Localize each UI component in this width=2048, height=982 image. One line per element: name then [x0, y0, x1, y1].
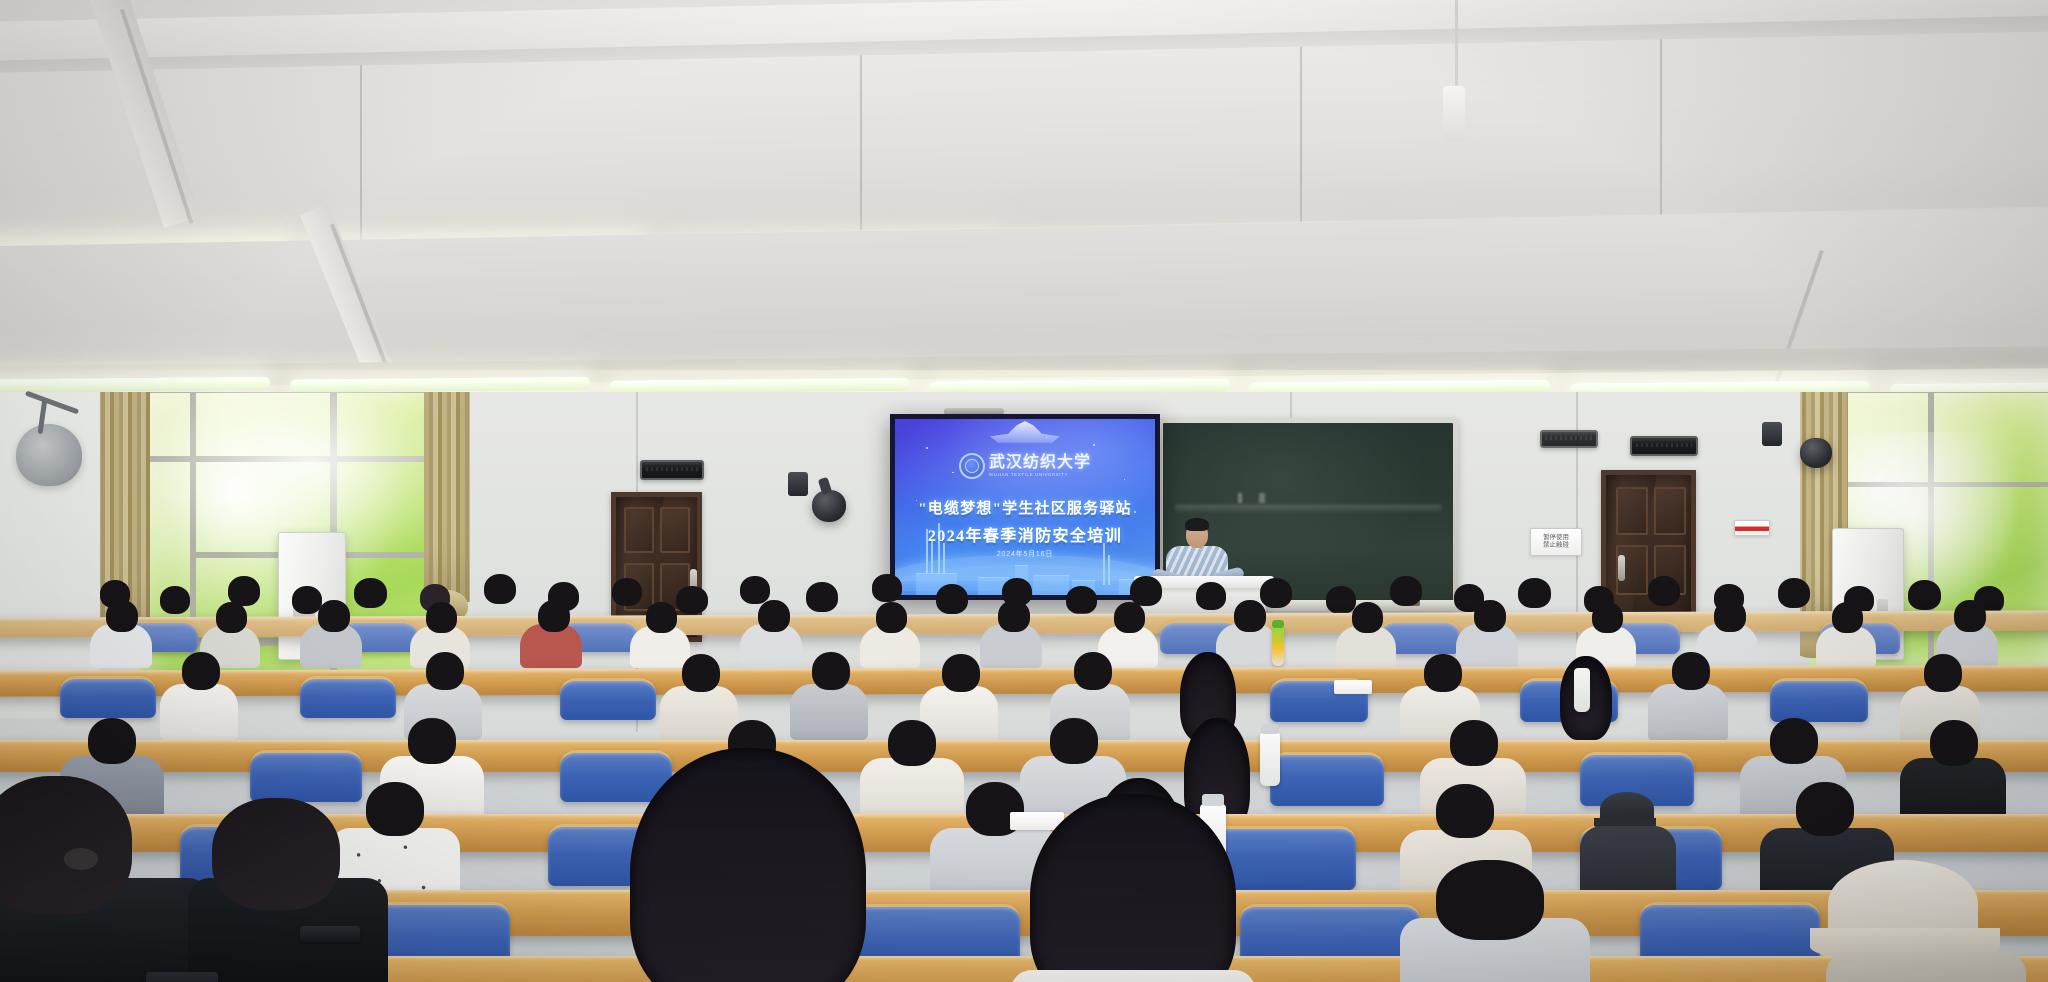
ceiling-hanger-rod	[1455, 0, 1458, 88]
led-sign-left	[640, 460, 704, 480]
eyeglasses	[64, 848, 98, 870]
wall-notice-plate: 暂停使用 禁止触碰	[1530, 528, 1582, 556]
led-sign-center-right	[1540, 430, 1598, 448]
slide-title-line1: "电缆梦想"学生社区服务驿站	[918, 497, 1131, 518]
wall-plate-line1: 暂停使用	[1543, 535, 1569, 542]
university-name-en: WUHAN TEXTILE UNIVERSITY	[989, 473, 1091, 478]
university-name-cn: 武汉纺织大学	[989, 455, 1091, 471]
drink-bottle[interactable]	[1272, 626, 1284, 666]
camera-icon-right	[1762, 422, 1782, 446]
speaker-icon-right	[1800, 438, 1832, 468]
smartphone[interactable]	[146, 972, 218, 982]
water-bottle[interactable]	[1574, 668, 1590, 712]
university-logo: 武汉纺织大学 WUHAN TEXTILE UNIVERSITY	[959, 453, 1091, 479]
audience	[0, 560, 2048, 982]
wall-fan-icon	[16, 424, 82, 486]
foreground-long-hair	[630, 748, 866, 982]
wall-plate-line2: 禁止触碰	[1543, 542, 1569, 549]
lecture-hall-photo: 暂停使用 禁止触碰	[0, 0, 2048, 982]
speaker-icon-left	[812, 490, 846, 522]
foreground-long-hair-2	[1030, 794, 1236, 982]
presenter-hair	[1185, 518, 1209, 531]
university-seal-icon	[959, 453, 985, 479]
led-sign-right	[1630, 436, 1698, 456]
water-bottle[interactable]	[1260, 732, 1280, 786]
smartphone[interactable]	[300, 926, 360, 942]
ceiling-hanger-fixture	[1443, 86, 1465, 142]
fire-extinguisher-sign	[1734, 520, 1770, 536]
paper-sheet[interactable]	[1334, 680, 1372, 694]
camera-icon-left	[788, 472, 808, 496]
